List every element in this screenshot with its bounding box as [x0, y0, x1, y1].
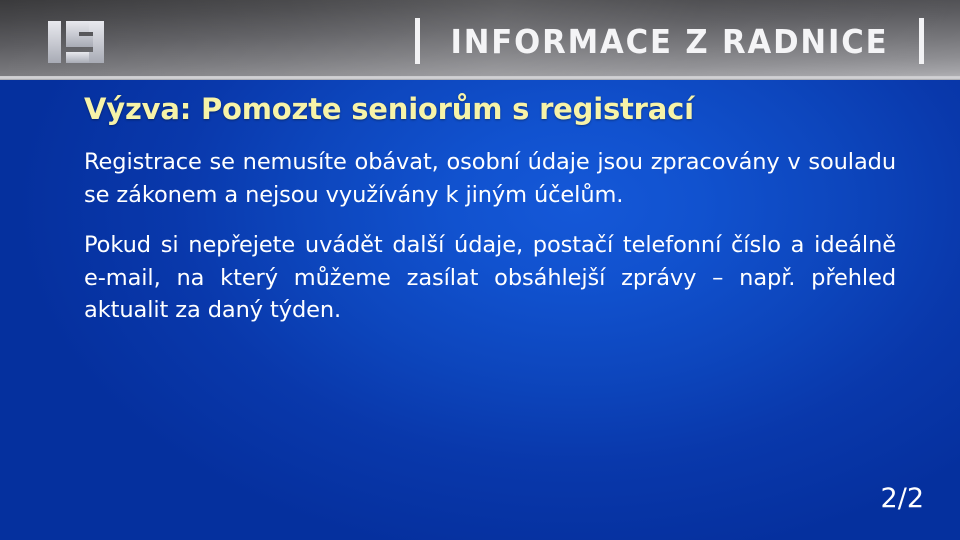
slide-canvas: INFORMACE Z RADNICE Výzva: Pomozte senio… — [0, 0, 960, 540]
body-paragraph-1: Registrace se nemusíte obávat, osobní úd… — [84, 146, 896, 211]
body-paragraph-2: Pokud si nepřejete uvádět další údaje, p… — [84, 229, 896, 327]
page-title: Výzva: Pomozte seniorům s registrací — [84, 90, 896, 128]
header-bottom-edge — [0, 76, 960, 80]
is-logo-icon — [48, 21, 126, 63]
banner-right-bar-icon — [919, 18, 924, 64]
slide-content: Výzva: Pomozte seniorům s registrací Reg… — [84, 90, 896, 327]
page-indicator: 2/2 — [881, 483, 924, 514]
banner-title-text: INFORMACE Z RADNICE — [451, 22, 889, 61]
banner-title-group: INFORMACE Z RADNICE — [415, 18, 924, 64]
banner-left-bar-icon — [415, 18, 420, 64]
